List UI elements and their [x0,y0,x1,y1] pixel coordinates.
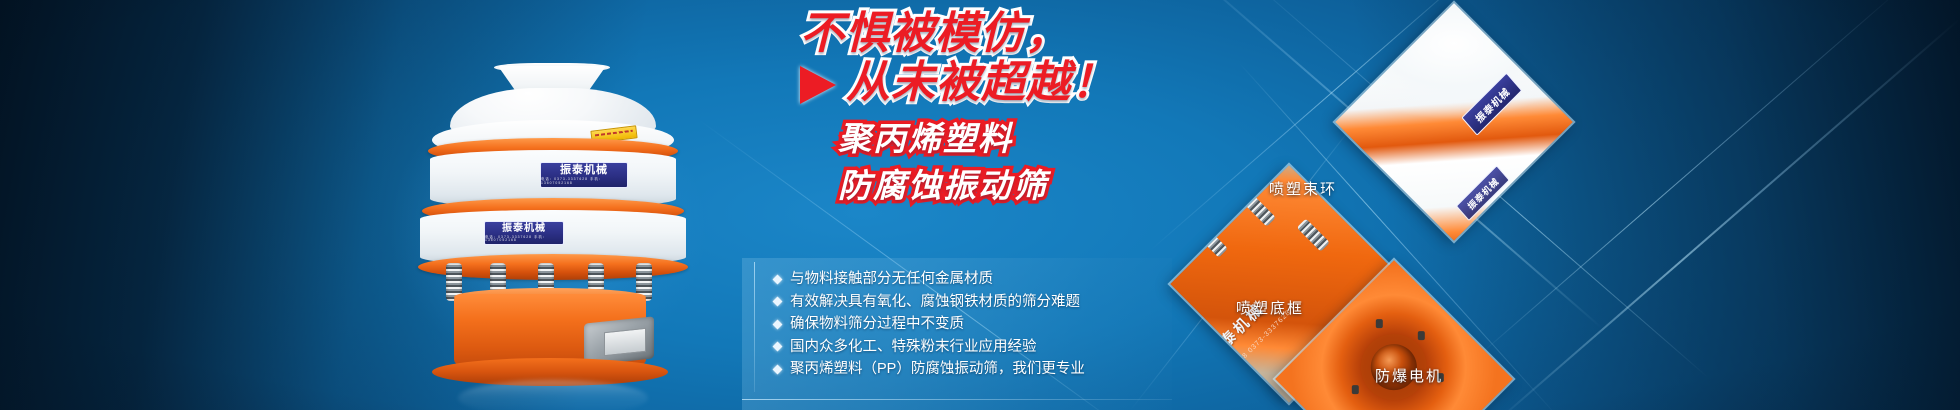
detail-photo-caption-clamp-ring: 喷塑束环 [1269,178,1337,199]
detail-photo-caption-base-frame: 喷塑底框 [1236,297,1304,318]
background-vignette [0,0,1960,410]
detail-photo-caption-motor: 防爆电机 [1375,365,1443,386]
promotional-banner: 振泰机械 电话：0373-3337628 手机：13607052168 振泰机械… [0,0,1960,410]
